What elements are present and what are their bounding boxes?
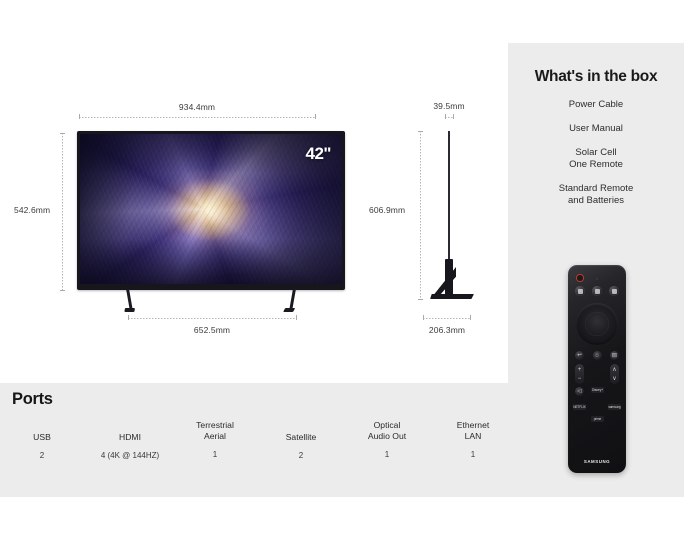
volume-down-icon: − [578,376,582,382]
box-item-3-line1: Standard Remote [508,183,684,195]
volume-rocker[interactable]: + − [575,364,584,384]
port-name-terrestrial-line1: Terrestrial [182,420,248,431]
port-value-terrestrial: 1 [182,450,248,459]
box-item-0-line1: Power Cable [508,99,684,111]
product-spec-page: 934.4mm 542.6mm 42" 652.5mm 39.5mm 606.9… [0,0,684,547]
dim-front-width-cap-right [315,114,316,119]
dim-side-height-line [420,131,421,299]
home-icon: ⌂ [595,353,598,359]
tv-side-panel [448,131,450,265]
port-column-terrestrial-aerial: Terrestrial Aerial 1 [182,420,248,459]
dim-side-base-cap-right [470,315,471,320]
port-value-usb: 2 [12,451,72,460]
tv-front-view: 42" [77,131,345,290]
ambient-button[interactable] [592,286,602,296]
box-item-2-line2: One Remote [508,159,684,171]
box-item-1-line1: User Manual [508,123,684,135]
dim-stand-width-line [128,318,296,319]
port-name-optical-line1: Optical [352,420,422,431]
tv-screen: 42" [80,134,342,284]
port-column-ethernet-lan: Ethernet LAN 1 [440,420,506,459]
port-value-ethernet: 1 [440,450,506,459]
dim-stand-width-cap-left [128,315,129,320]
screen-size-badge: 42" [306,144,331,164]
whats-in-box-title: What's in the box [508,68,684,86]
dim-front-width-line [79,117,315,118]
dim-side-base-cap-left [423,315,424,320]
port-column-hdmi: HDMI 4 (4K @ 144HZ) [95,432,165,460]
dim-side-base-label: 206.3mm [429,325,465,335]
dim-stand-width-cap-right [296,315,297,320]
dim-front-height-line [62,133,63,290]
dim-side-base-line [423,318,470,319]
dim-front-height-cap-bottom [60,290,65,291]
port-name-terrestrial-line2: Aerial [182,431,248,442]
tv-leg-right [289,289,296,311]
port-name-ethernet-line1: Ethernet [440,420,506,431]
dim-stand-width-label: 652.5mm [194,325,230,335]
remote-control: ↩ ⌂ ▤ + − ∧ ∨ ◁ Disney+ NETFLIX samsung … [568,265,626,473]
port-name-usb: USB [12,432,72,443]
dim-side-depth-label: 39.5mm [433,101,464,111]
back-button[interactable]: ↩ [575,351,584,360]
port-name-hdmi: HDMI [95,432,165,443]
channel-up-icon: ∧ [612,367,616,373]
port-value-satellite: 2 [268,451,334,460]
mute-icon: ◁ [577,389,581,395]
port-column-satellite: Satellite 2 [268,432,334,460]
remote-brand-logo: SAMSUNG [584,459,610,464]
port-column-optical-audio-out: Optical Audio Out 1 [352,420,422,459]
tv-side-view [440,131,486,306]
dpad-ring[interactable] [576,303,618,345]
tv-stand-base [430,294,474,299]
port-name-ethernet-line2: LAN [440,431,506,442]
ports-title: Ports [12,390,53,409]
voice-mic-button[interactable] [609,286,619,296]
dim-side-height-cap-bottom [418,299,423,300]
channel-down-icon: ∨ [612,376,616,382]
mute-button[interactable]: ◁ [575,387,584,396]
port-column-usb: USB 2 [12,432,72,460]
app-button-samsung-tv[interactable]: samsung tv [608,404,621,410]
app-button-netflix[interactable]: NETFLIX [573,404,586,410]
app-button-disney[interactable]: Disney+ [591,387,604,393]
home-button[interactable]: ⌂ [593,351,602,360]
port-name-optical-line2: Audio Out [352,431,422,442]
dim-side-height-cap-top [418,131,423,132]
channel-rocker[interactable]: ∧ ∨ [610,364,619,384]
back-icon: ↩ [577,353,582,359]
dim-side-depth-cap-right [453,114,454,119]
tv-stand-neck [445,259,453,297]
box-item-3-line2: and Batteries [508,195,684,207]
port-value-optical: 1 [352,450,422,459]
volume-up-icon: + [578,367,582,373]
port-value-hdmi: 4 (4K @ 144HZ) [95,451,165,460]
dim-side-depth-cap-left [445,114,446,119]
guide-icon: ▤ [612,353,617,359]
dim-front-height-label: 542.6mm [14,205,50,215]
microphone-pinhole-icon [596,278,598,280]
dim-side-height-label: 606.9mm [369,205,405,215]
app-button-prime-video[interactable]: prime video [591,416,604,422]
dim-front-width-cap-left [79,114,80,119]
dim-front-height-cap-top [60,133,65,134]
assistant-button[interactable] [575,286,585,296]
dim-front-width-label: 934.4mm [179,102,215,112]
box-item-2-line1: Solar Cell [508,147,684,159]
dim-side-depth-line [445,117,453,118]
screen-wallpaper-vignette [80,134,342,284]
port-name-satellite: Satellite [268,432,334,443]
guide-button[interactable]: ▤ [610,351,619,360]
tv-leg-left [126,289,133,311]
power-button-icon[interactable] [576,274,584,282]
